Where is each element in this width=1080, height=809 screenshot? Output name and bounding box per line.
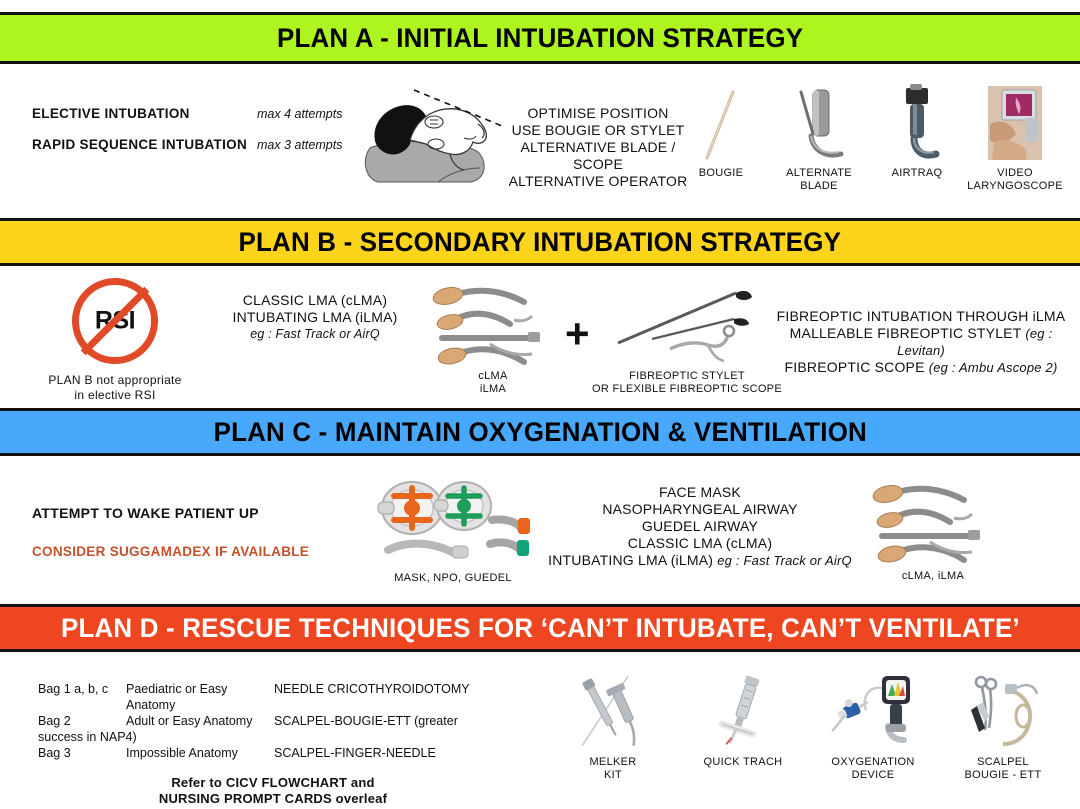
plan-d-refer-note: Refer to CICV FLOWCHART and NURSING PROM…	[38, 775, 508, 807]
clma-ilma-icon	[868, 478, 998, 570]
plan-a-action-list: OPTIMISE POSITION USE BOUGIE OR STYLET A…	[508, 105, 688, 190]
plan-b-lma-caption: cLMA iLMA	[428, 370, 558, 396]
plan-a-action-0: OPTIMISE POSITION	[508, 105, 688, 122]
plan-d-row-2-bag: Bag 3	[38, 745, 126, 761]
plan-d-row-0-bag: Bag 1 a, b, c	[38, 681, 126, 713]
plan-a-device-bougie: BOUGIE	[672, 84, 770, 193]
plan-c-suggamadex-text: CONSIDER SUGGAMADEX IF AVAILABLE	[32, 544, 309, 559]
mask-npo-guedel-icon	[372, 478, 532, 570]
plan-c-banner-title: PLAN C - MAINTAIN OXYGENATION & VENTILAT…	[213, 417, 866, 448]
rsi-prohibition-block: RSI PLAN B not appropriate in elective R…	[30, 278, 200, 403]
plan-d-device-oxygenation-caption: OXYGENATION DEVICE	[831, 756, 914, 782]
plan-b-fibreoptic-caption-line2: OR FLEXIBLE FIBREOPTIC SCOPE	[592, 383, 782, 396]
plan-a-banner-title: PLAN A - INITIAL INTUBATION STRATEGY	[277, 23, 803, 54]
plan-a-action-2: ALTERNATIVE BLADE / SCOPE	[508, 139, 688, 173]
plan-d-banner: PLAN D - RESCUE TECHNIQUES FOR ‘CAN’T IN…	[0, 604, 1080, 652]
patient-head-position-icon	[352, 82, 502, 187]
plan-d-device-scalpel-bougie-ett: SCALPEL BOUGIE - ETT	[938, 672, 1068, 782]
plan-a-device-alternate-blade: ALTERNATE BLADE	[770, 84, 868, 193]
plan-b-right-line-1-text: MALLEABLE FIBREOPTIC STYLET	[790, 325, 1026, 341]
plan-b-fibreoptic-caption: FIBREOPTIC STYLET OR FLEXIBLE FIBREOPTIC…	[592, 370, 782, 396]
table-row: Bag 1 a, b, c Paediatric or Easy Anatomy…	[38, 681, 508, 713]
plan-a-device-airtraq: AIRTRAQ	[868, 84, 966, 193]
plan-b-banner-title: PLAN B - SECONDARY INTUBATION STRATEGY	[239, 227, 842, 258]
plan-d-row-2-technique: SCALPEL-FINGER-NEEDLE	[274, 745, 508, 761]
plan-d-row-0-anatomy: Paediatric or Easy Anatomy	[126, 681, 274, 713]
plan-d-refer-line2: NURSING PROMPT CARDS overleaf	[38, 791, 508, 807]
plan-a-device-video-laryngoscope: VIDEO LARYNGOSCOPE	[966, 84, 1064, 193]
plan-b-lma-caption-line1: cLMA	[428, 370, 558, 383]
plan-a-action-3: ALTERNATIVE OPERATOR	[508, 173, 688, 190]
rsi-caption-line2: in elective RSI	[48, 388, 181, 403]
plan-d-row-2-anatomy: Impossible Anatomy	[126, 745, 274, 761]
plan-b-fibreoptic-caption-line1: FIBREOPTIC STYLET	[592, 370, 782, 383]
plan-b-lma-line-1: INTUBATING LMA (iLMA)	[205, 309, 425, 326]
plan-a-device-airtraq-caption: AIRTRAQ	[892, 167, 943, 180]
plan-b-right-line-1: MALLEABLE FIBREOPTIC STYLET (eg : Levita…	[776, 325, 1066, 359]
plan-a-row-1-attempts: max 3 attempts	[257, 138, 342, 152]
plan-c-airway-0: FACE MASK	[540, 484, 860, 501]
plan-a-row-1-name: RAPID SEQUENCE INTUBATION	[32, 137, 257, 152]
plan-a-attempt-rows: ELECTIVE INTUBATION max 4 attempts RAPID…	[32, 106, 342, 168]
plan-d-device-scalpel-bougie-ett-caption: SCALPEL BOUGIE - ETT	[965, 756, 1042, 782]
plan-d-banner-title: PLAN D - RESCUE TECHNIQUES FOR ‘CAN’T IN…	[61, 613, 1020, 644]
plan-c-airway-4-text: INTUBATING LMA (iLMA)	[548, 552, 717, 568]
table-row: ELECTIVE INTUBATION max 4 attempts	[32, 106, 342, 121]
lma-devices-icon	[428, 280, 558, 370]
plan-b-lma-line-0: CLASSIC LMA (cLMA)	[205, 292, 425, 309]
plan-a-banner: PLAN A - INITIAL INTUBATION STRATEGY	[0, 12, 1080, 64]
plan-b-right-line-2: FIBREOPTIC SCOPE (eg : Ambu Ascope 2)	[776, 359, 1066, 376]
plan-d-device-quick-trach: QUICK TRACH	[678, 672, 808, 782]
plan-d-row-1-bag: Bag 2	[38, 713, 126, 729]
plan-c-airway-4-eg: eg : Fast Track or AirQ	[717, 553, 852, 568]
plan-d-row-1-anatomy: Adult or Easy Anatomy	[126, 713, 274, 729]
plan-a-device-alternate-blade-caption: ALTERNATE BLADE	[786, 167, 852, 193]
plan-d-row-1-technique: SCALPEL-BOUGIE-ETT (greater	[274, 713, 508, 729]
plan-d-row-0-technique: NEEDLE CRICOTHYROIDOTOMY	[274, 681, 508, 713]
plan-d-device-quick-trach-caption: QUICK TRACH	[704, 756, 783, 769]
fibreoptic-devices-icon	[608, 283, 768, 368]
airway-algorithm-poster: PLAN A - INITIAL INTUBATION STRATEGY ELE…	[0, 0, 1080, 809]
plan-a-device-video-laryngoscope-caption: VIDEO LARYNGOSCOPE	[967, 167, 1063, 193]
table-row: Bag 3 Impossible Anatomy SCALPEL-FINGER-…	[38, 745, 508, 761]
plan-a-device-gallery: BOUGIE ALTERNATE BLADE	[672, 84, 1072, 193]
plan-b-lma-caption-line2: iLMA	[428, 383, 558, 396]
plan-d-bag-table: Bag 1 a, b, c Paediatric or Easy Anatomy…	[38, 681, 508, 807]
laryngoscope-blade-icon	[789, 84, 849, 162]
airtraq-icon	[892, 84, 942, 162]
plan-d-wrap-line: success in NAP4)	[38, 729, 508, 745]
table-row: Bag 2 Adult or Easy Anatomy SCALPEL-BOUG…	[38, 713, 508, 729]
plan-b-lma-eg: eg : Fast Track or AirQ	[205, 326, 425, 343]
plan-a-device-bougie-caption: BOUGIE	[699, 167, 744, 180]
plan-d-device-melker: MELKER KIT	[548, 672, 678, 782]
melker-kit-icon	[578, 672, 648, 750]
no-rsi-icon: RSI	[72, 278, 158, 364]
plan-b-right-line-0-text: FIBREOPTIC INTUBATION THROUGH iLMA	[777, 308, 1066, 324]
plan-c-left-actions: ATTEMPT TO WAKE PATIENT UP CONSIDER SUGG…	[32, 505, 309, 559]
quick-trach-icon	[713, 672, 773, 750]
plan-b-right-line-2-text: FIBREOPTIC SCOPE	[785, 359, 929, 375]
plan-c-airway-2: GUEDEL AIRWAY	[540, 518, 860, 535]
plan-c-mask-caption: MASK, NPO, GUEDEL	[368, 572, 538, 585]
plus-icon: +	[565, 313, 590, 355]
oxygenation-device-icon	[828, 672, 918, 750]
plan-a-row-0-name: ELECTIVE INTUBATION	[32, 106, 257, 121]
plan-b-right-list: FIBREOPTIC INTUBATION THROUGH iLMA MALLE…	[776, 308, 1066, 376]
plan-b-right-line-0: FIBREOPTIC INTUBATION THROUGH iLMA	[776, 308, 1066, 325]
plan-c-airway-list: FACE MASK NASOPHARYNGEAL AIRWAY GUEDEL A…	[540, 484, 860, 569]
rsi-caption: PLAN B not appropriate in elective RSI	[48, 373, 181, 403]
plan-d-device-oxygenation: OXYGENATION DEVICE	[808, 672, 938, 782]
plan-d-device-melker-caption: MELKER KIT	[589, 756, 636, 782]
plan-c-banner: PLAN C - MAINTAIN OXYGENATION & VENTILAT…	[0, 408, 1080, 456]
table-row: RAPID SEQUENCE INTUBATION max 3 attempts	[32, 137, 342, 152]
plan-c-airway-3: CLASSIC LMA (cLMA)	[540, 535, 860, 552]
video-laryngoscope-icon	[986, 84, 1044, 162]
plan-c-airway-4: INTUBATING LMA (iLMA) eg : Fast Track or…	[540, 552, 860, 569]
rsi-caption-line1: PLAN B not appropriate	[48, 373, 181, 388]
plan-a-row-0-attempts: max 4 attempts	[257, 107, 342, 121]
bougie-icon	[701, 84, 741, 162]
plan-b-right-line-2-eg: (eg : Ambu Ascope 2)	[929, 360, 1058, 375]
plan-a-action-1: USE BOUGIE OR STYLET	[508, 122, 688, 139]
plan-d-refer-line1: Refer to CICV FLOWCHART and	[38, 775, 508, 791]
plan-c-wake-text: ATTEMPT TO WAKE PATIENT UP	[32, 505, 309, 521]
plan-b-lma-list: CLASSIC LMA (cLMA) INTUBATING LMA (iLMA)…	[205, 292, 425, 343]
plan-d-device-gallery: MELKER KIT	[548, 672, 1068, 782]
plan-c-lma-caption: cLMA, iLMA	[868, 570, 998, 583]
scalpel-bougie-ett-icon	[963, 672, 1043, 750]
plan-c-airway-1: NASOPHARYNGEAL AIRWAY	[540, 501, 860, 518]
plan-b-banner: PLAN B - SECONDARY INTUBATION STRATEGY	[0, 218, 1080, 266]
